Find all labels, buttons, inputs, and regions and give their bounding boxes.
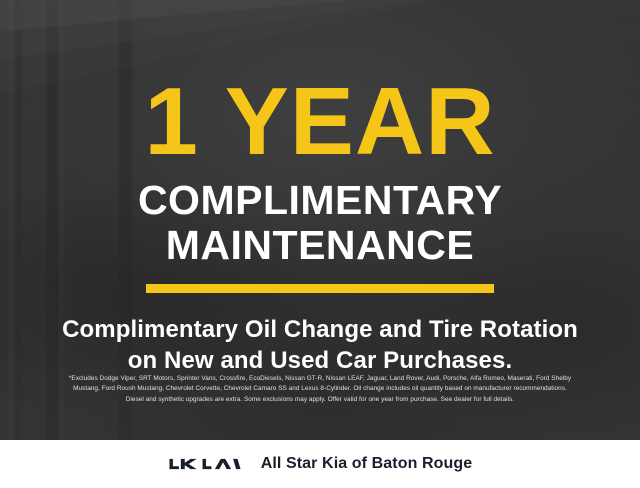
headline-maintenance: MAINTENANCE	[166, 225, 474, 266]
offer-description-line-1: Complimentary Oil Change and Tire Rotati…	[62, 315, 578, 346]
yellow-divider-bar	[146, 284, 494, 293]
disclaimer-line-2: Mustang, Ford Roush Mustang, Chevrolet C…	[14, 384, 626, 394]
offer-description-line-2: on New and Used Car Purchases.	[128, 346, 512, 377]
dealer-name: All Star Kia of Baton Rouge	[261, 455, 473, 473]
kia-logo	[168, 453, 242, 475]
hero-section: 1 YEAR COMPLIMENTARY MAINTENANCE Complim…	[0, 0, 640, 440]
disclaimer-line-3: Diesel and synthetic upgrades are extra.…	[14, 395, 626, 405]
headline-complimentary: COMPLIMENTARY	[138, 180, 502, 221]
disclaimer-line-1: *Excludes Dodge Viper, SRT Motors, Sprin…	[14, 374, 626, 384]
promotional-banner: 1 YEAR COMPLIMENTARY MAINTENANCE Complim…	[0, 0, 640, 488]
footer-bar: All Star Kia of Baton Rouge	[0, 440, 640, 488]
headline-year: 1 YEAR	[144, 78, 495, 166]
disclaimer-text: *Excludes Dodge Viper, SRT Motors, Sprin…	[0, 374, 640, 405]
